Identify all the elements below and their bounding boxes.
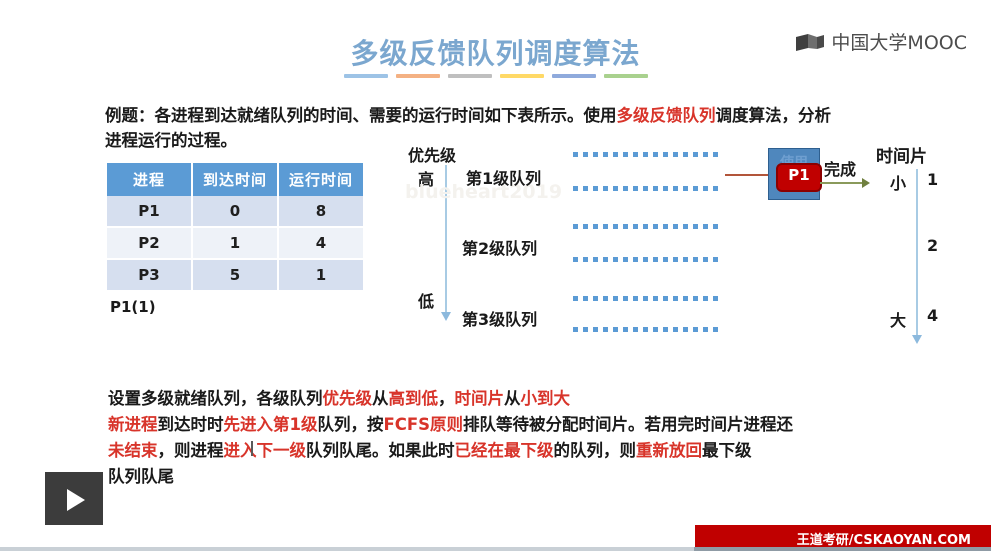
- explain-l3-red4: 重新放回: [636, 441, 702, 460]
- explain-l2-c: 排队等待被分配时间片。若用完时间片进程还: [463, 415, 793, 434]
- explain-l3-c: 的队列，则: [554, 441, 637, 460]
- play-triangle-icon: [67, 489, 85, 511]
- table-header-process: 进程: [107, 163, 192, 196]
- completion-arrow-icon: [820, 182, 862, 184]
- priority-high-label: 高: [418, 166, 434, 190]
- cell-process: P2: [107, 227, 192, 259]
- page-title: 多级反馈队列调度算法: [0, 32, 991, 72]
- explain-l1-d: 从: [504, 389, 521, 408]
- title-rule-seg-2: [396, 74, 440, 78]
- title-rule-seg-4: [500, 74, 544, 78]
- table-row: P1 0 8: [107, 196, 363, 227]
- timeslice-value: 2: [927, 236, 938, 255]
- explain-l1-b: 从: [372, 389, 389, 408]
- prompt-line2: 进程运行的过程。: [105, 131, 237, 150]
- cell-arrival: 1: [192, 227, 278, 259]
- prompt-lead: 例题：各进程到达就绪队列的时间、需要的运行时间如下表所示。使用: [105, 106, 617, 125]
- prompt-tail: 调度算法，分析: [716, 106, 832, 125]
- process-table: 进程 到达时间 运行时间 P1 0 8 P2 1 4 P3 5 1: [107, 163, 363, 292]
- table-row: P2 1 4: [107, 227, 363, 259]
- explain-l2-red3: FCFS原则: [383, 415, 463, 434]
- table-header-arrival: 到达时间: [192, 163, 278, 196]
- explain-l3-red1: 未结束: [108, 441, 158, 460]
- explain-l1-red1: 优先级: [323, 389, 373, 408]
- video-progress-bar[interactable]: [0, 547, 991, 551]
- dispatch-arrow-icon: [725, 174, 769, 176]
- explain-l2-a: 到达时时: [158, 415, 224, 434]
- queue-slot-line: [573, 296, 720, 301]
- explain-l2-red1: 新进程: [108, 415, 158, 434]
- problem-statement: 例题：各进程到达就绪队列的时间、需要的运行时间如下表所示。使用多级反馈队列调度算…: [105, 103, 945, 153]
- queue-label-level-3: 第3级队列: [462, 306, 537, 330]
- timeslice-large-label: 大: [890, 307, 906, 331]
- prompt-highlight: 多级反馈队列: [617, 106, 716, 125]
- timeslice-axis-caption: 时间片: [876, 142, 927, 167]
- timeslice-value: 4: [927, 306, 938, 325]
- cell-runtime: 4: [278, 227, 363, 259]
- explain-l3-red3: 已经在最下级: [455, 441, 554, 460]
- table-row: P3 5 1: [107, 259, 363, 291]
- title-rule: [0, 74, 991, 78]
- explain-l4: 队列队尾: [108, 467, 174, 486]
- cell-runtime: 8: [278, 196, 363, 227]
- queue-slot-line: [573, 186, 720, 191]
- cell-arrival: 5: [192, 259, 278, 291]
- queue-label-level-1: 第1级队列: [466, 165, 541, 189]
- cell-process: P1: [107, 196, 192, 227]
- explain-l1-red2: 高到低: [389, 389, 439, 408]
- explain-l3-a: ，则进程: [158, 441, 224, 460]
- table-header-runtime: 运行时间: [278, 163, 363, 196]
- explain-l1-a: 设置多级就绪队列，各级队列: [108, 389, 323, 408]
- explain-l3-d: 最下级: [702, 441, 752, 460]
- cell-process: P3: [107, 259, 192, 291]
- priority-low-label: 低: [418, 288, 434, 312]
- algorithm-explanation: 设置多级就绪队列，各级队列优先级从高到低，时间片从小到大 新进程到达时时先进入第…: [108, 386, 908, 490]
- footer-site-label: 王道考研/CSKAOYAN.COM: [797, 529, 971, 548]
- ready-queue-state: P1(1): [110, 298, 156, 316]
- explain-l3-b: 队列队尾。如果此时: [306, 441, 455, 460]
- queue-slot-line: [573, 224, 720, 229]
- title-rule-seg-3: [448, 74, 492, 78]
- explain-l1-c: ，: [438, 389, 455, 408]
- title-rule-seg-6: [604, 74, 648, 78]
- cpu-running-process: P1: [776, 163, 822, 192]
- video-progress-fill: [0, 547, 694, 551]
- queue-label-level-2: 第2级队列: [462, 235, 537, 259]
- cell-arrival: 0: [192, 196, 278, 227]
- explain-l2-b: 队列，按: [317, 415, 383, 434]
- queue-slot-line: [573, 327, 720, 332]
- title-rule-seg-5: [552, 74, 596, 78]
- queue-slot-line: [573, 257, 720, 262]
- explain-l2-red2: 先进入第1级: [224, 415, 318, 434]
- timeslice-small-label: 小: [890, 170, 906, 194]
- text-cursor: [251, 441, 253, 456]
- completion-label: 完成: [824, 156, 856, 180]
- play-button[interactable]: [45, 472, 103, 528]
- explain-l3-red2: 进入下一级: [224, 441, 307, 460]
- table-header-row: 进程 到达时间 运行时间: [107, 163, 363, 196]
- title-rule-seg-1: [344, 74, 388, 78]
- timeslice-axis-arrow: [916, 169, 918, 336]
- explain-l1-red4: 小到大: [521, 389, 571, 408]
- explain-l1-red3: 时间片: [455, 389, 505, 408]
- priority-axis-caption: 优先级: [408, 142, 456, 166]
- slide-canvas: 中国大学MOOC 多级反馈队列调度算法 例题：各进程到达就绪队列的时间、需要的运…: [0, 0, 991, 551]
- timeslice-value: 1: [927, 170, 938, 189]
- queue-slot-line: [573, 152, 720, 157]
- cell-runtime: 1: [278, 259, 363, 291]
- priority-axis-arrow: [445, 165, 447, 313]
